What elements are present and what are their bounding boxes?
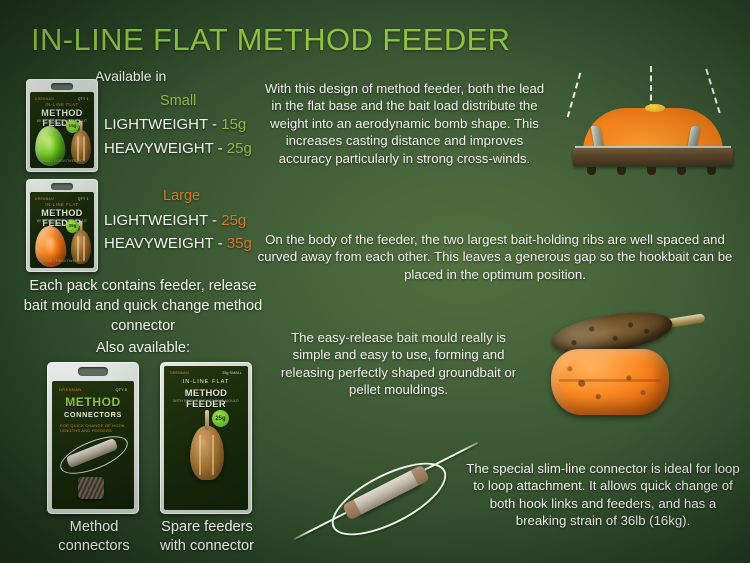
page-title: IN-LINE FLAT METHOD FEEDER: [31, 22, 510, 58]
pack-subtitle-large: WITH EASY RELEASE BAIT MOULD: [30, 219, 94, 227]
weight-badge-small: 15g: [66, 120, 79, 133]
connectors-blurb: FOR QUICK CHANGE OF HOOK LENGTHS AND FEE…: [60, 423, 134, 434]
bait-mould-photo: [545, 315, 725, 435]
feeder-cross-section-photo: [573, 108, 733, 170]
connectors-title: METHOD: [52, 395, 134, 409]
base-lug: [707, 167, 716, 175]
pack-qty-large: QTY 1: [78, 197, 89, 201]
connector-pile-photo: [78, 477, 104, 499]
large-heavyweight-line: HEAVYWEIGHT - 35g: [104, 235, 252, 252]
product-pack-spare-feeders: DRENNAN 25g SMALL IN-LINE FLAT METHOD FE…: [160, 362, 252, 514]
spare-feeder-photo: [190, 426, 224, 480]
pack-topline-large: IN-LINE FLAT: [30, 202, 94, 207]
feeder-flat-base: [573, 148, 733, 166]
base-lug: [677, 167, 686, 175]
base-lug: [617, 167, 626, 175]
feeder-stem: [205, 410, 209, 430]
feeder-rib: [77, 236, 79, 261]
leader-line-right: [705, 69, 720, 114]
infographic-poster: IN-LINE FLAT METHOD FEEDER Available in …: [0, 0, 750, 563]
size-label-small: Small: [160, 93, 196, 109]
small-lightweight-label: LIGHTWEIGHT -: [104, 116, 221, 133]
product-pack-large: DRENNAN QTY 1 IN-LINE FLAT METHOD FEEDER…: [26, 179, 98, 272]
spare-qty: 25g SMALL: [222, 371, 242, 375]
connector-loop-photo: [55, 429, 132, 482]
base-lug: [647, 167, 656, 175]
spare-topline: IN-LINE FLAT: [164, 379, 248, 385]
feeder-rib: [77, 136, 79, 161]
large-lightweight-value: 25g: [221, 212, 246, 229]
connectors-brand: DRENNAN: [59, 387, 82, 392]
description-aerodynamics: With this design of method feeder, both …: [262, 80, 547, 167]
description-connector: The special slim-line connector is ideal…: [466, 460, 740, 530]
product-pack-small: DRENNAN QTY 1 IN-LINE FLAT METHOD FEEDER…: [26, 79, 98, 172]
base-lug: [587, 167, 596, 175]
feeder-rib: [212, 435, 214, 476]
feeder-rib: [83, 236, 85, 261]
spare-brand: DRENNAN: [170, 371, 189, 375]
hang-tab-icon: [78, 367, 108, 376]
slim-line-connector-photo: [292, 452, 482, 544]
large-lightweight-line: LIGHTWEIGHT - 25g: [104, 212, 246, 229]
pack-card-connectors: DRENNAN QTY 8 METHOD CONNECTORS FOR QUIC…: [52, 381, 134, 509]
description-ribs: On the body of the feeder, the two large…: [253, 231, 737, 283]
connectors-subtitle: CONNECTORS: [52, 410, 134, 419]
spare-subtitle: WITH EASY RELEASE BAIT MOULD: [164, 399, 248, 403]
hang-tab-icon: [51, 83, 73, 90]
pack-topline-small: IN-LINE FLAT: [30, 102, 94, 107]
large-heavyweight-value: 35g: [227, 235, 252, 252]
pack-footer-small: SMALL / LIGHTWEIGHT: [30, 159, 94, 163]
pack-card-small: DRENNAN QTY 1 IN-LINE FLAT METHOD FEEDER…: [30, 92, 94, 168]
large-heavyweight-label: HEAVYWEIGHT -: [104, 235, 227, 252]
feeder-rib: [199, 435, 201, 476]
product-pack-method-connectors: DRENNAN QTY 8 METHOD CONNECTORS FOR QUIC…: [47, 362, 139, 514]
pack-footer-large: LARGE / HEAVYWEIGHT: [30, 259, 94, 263]
weight-badge-large: 35g: [66, 220, 79, 233]
small-lightweight-line: LIGHTWEIGHT - 15g: [104, 116, 246, 133]
also-available-heading: Also available:: [18, 340, 268, 356]
spare-title: METHOD FEEDER: [164, 387, 248, 409]
feeder-rib: [83, 136, 85, 161]
small-heavyweight-value: 25g: [227, 140, 252, 157]
pack-contents-note: Each pack contains feeder, release bait …: [18, 276, 268, 336]
size-label-large: Large: [163, 188, 200, 204]
hookbait-pellet: [645, 104, 665, 112]
pack-qty-small: QTY 1: [78, 97, 89, 101]
mould-highlight: [43, 136, 56, 155]
connectors-qty: QTY 8: [116, 387, 128, 392]
pack-brand-large: DRENNAN: [35, 197, 54, 201]
mould-highlight: [44, 236, 58, 256]
hang-tab-icon: [51, 183, 73, 190]
description-bait-mould: The easy-release bait mould really is si…: [277, 329, 520, 399]
weight-badge-spare: 25g: [212, 410, 229, 427]
availability-heading: Available in: [95, 68, 166, 84]
caption-method-connectors: Method connectors: [42, 518, 146, 556]
orange-bait-mould: [551, 349, 669, 415]
small-heavyweight-label: HEAVYWEIGHT -: [104, 140, 227, 157]
small-heavyweight-line: HEAVYWEIGHT - 25g: [104, 140, 252, 157]
pack-brand-small: DRENNAN: [35, 97, 54, 101]
small-lightweight-value: 15g: [221, 116, 246, 133]
pack-subtitle-small: WITH EASY RELEASE BAIT MOULD: [30, 119, 94, 127]
caption-spare-feeders: Spare feeders with connector: [152, 518, 262, 556]
pack-card-large: DRENNAN QTY 1 IN-LINE FLAT METHOD FEEDER…: [30, 192, 94, 268]
large-lightweight-label: LIGHTWEIGHT -: [104, 212, 221, 229]
pack-card-spare: DRENNAN 25g SMALL IN-LINE FLAT METHOD FE…: [164, 366, 248, 510]
